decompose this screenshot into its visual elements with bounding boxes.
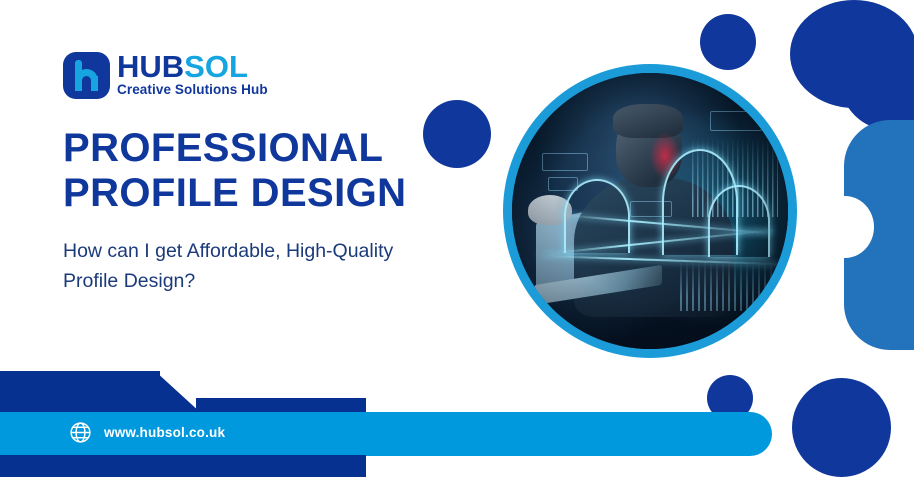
hero-photo — [512, 73, 788, 349]
hero-vignette — [512, 73, 788, 349]
footer-navy-strip — [196, 398, 366, 413]
website-link[interactable]: www.hubsol.co.uk — [68, 420, 225, 445]
h-leg — [91, 76, 98, 91]
decorative-circle — [423, 100, 491, 168]
subheadline: How can I get Affordable, High-Quality P… — [63, 236, 453, 296]
hero-image-ring — [503, 64, 797, 358]
footer-navy-band — [0, 371, 160, 413]
decorative-circle — [700, 14, 756, 70]
decorative-blob-notch — [816, 196, 874, 258]
brand-name: HUBSOL — [117, 52, 268, 82]
website-url-text: www.hubsol.co.uk — [104, 425, 225, 440]
brand-name-part2: SOL — [184, 49, 248, 84]
globe-icon — [68, 420, 93, 445]
footer-navy-diagonal — [155, 371, 201, 413]
page-title: PROFESSIONAL PROFILE DESIGN — [63, 126, 406, 216]
brand-logo[interactable]: HUBSOL Creative Solutions Hub — [63, 52, 268, 99]
hubsol-h-mark-icon — [63, 52, 110, 99]
brand-tagline: Creative Solutions Hub — [117, 82, 268, 97]
promo-banner: HUBSOL Creative Solutions Hub PROFESSION… — [0, 0, 914, 477]
decorative-circle — [792, 378, 891, 477]
footer-navy-bottom-band — [0, 455, 366, 477]
headline-line-2: PROFILE DESIGN — [63, 171, 406, 216]
brand-wordmark: HUBSOL Creative Solutions Hub — [117, 52, 268, 97]
headline-line-1: PROFESSIONAL — [63, 126, 406, 171]
brand-name-part1: HUB — [117, 49, 184, 84]
